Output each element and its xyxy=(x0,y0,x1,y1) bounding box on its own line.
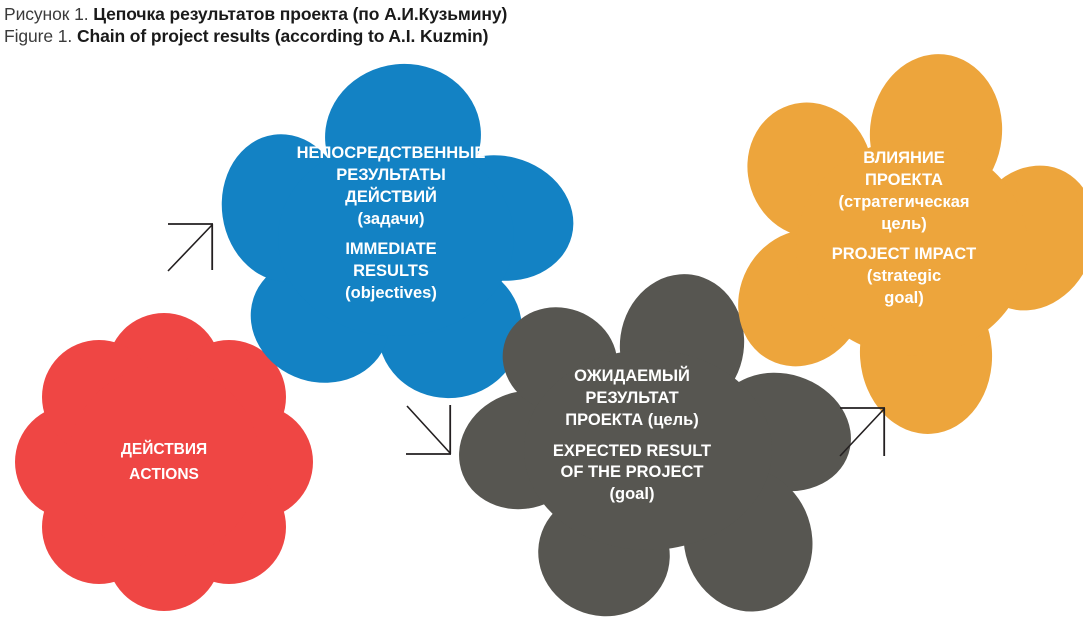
arrow-up-right-icon xyxy=(838,405,890,459)
results-chain-diagram: ДЕЙСТВИЯ ACTIONS НЕПОСРЕДСТВЕННЫЕ РЕЗУЛЬ… xyxy=(0,0,1083,629)
arrow-up-right-icon xyxy=(166,221,216,273)
arrow-down-right-icon xyxy=(404,403,456,459)
arrow-actions-to-immediate xyxy=(166,221,216,273)
petal-group xyxy=(714,48,1083,439)
arrow-expected-to-impact xyxy=(838,405,890,459)
node-project-impact[interactable]: ВЛИЯНИЕ ПРОЕКТА (стратегическая цель) PR… xyxy=(740,52,1070,434)
flower-5-petal-shape-orange xyxy=(740,52,1070,434)
arrow-immediate-to-expected xyxy=(404,403,456,459)
